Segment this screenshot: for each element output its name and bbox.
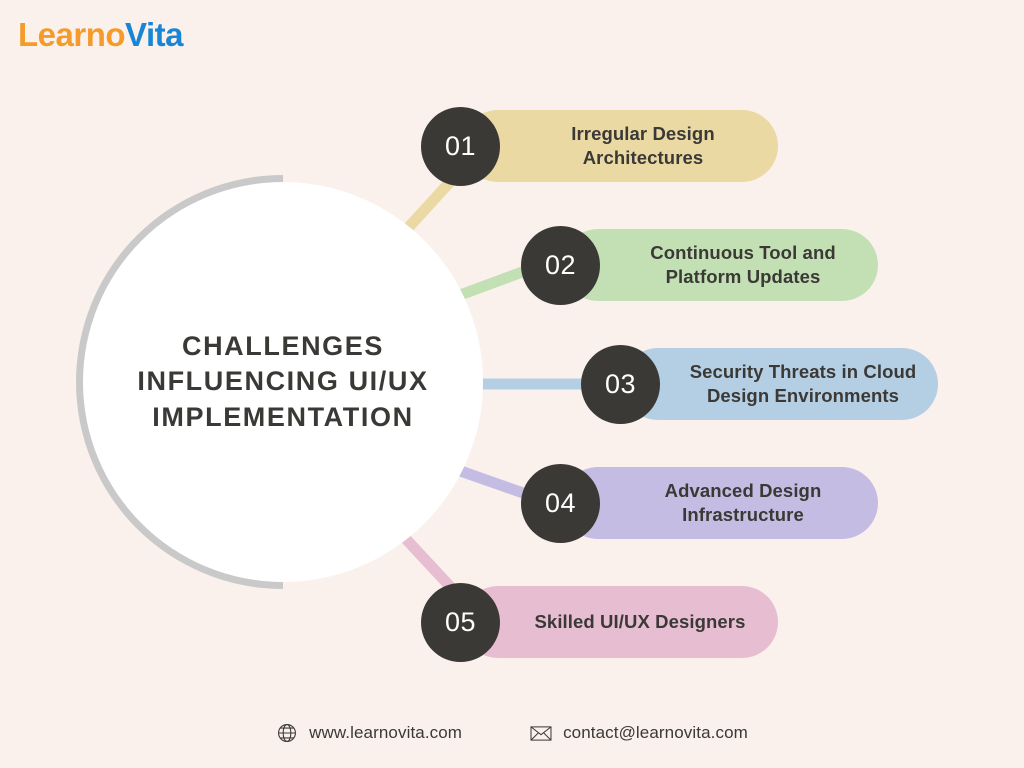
item-badge-02: 02	[521, 226, 600, 305]
item-pill-01[interactable]: Irregular Design Architectures	[462, 110, 778, 182]
item-pill-02[interactable]: Continuous Tool and Platform Updates	[562, 229, 878, 301]
footer-email-text: contact@learnovita.com	[563, 723, 748, 743]
item-badge-05: 05	[421, 583, 500, 662]
item-label-03: Security Threats in Cloud Design Environ…	[622, 360, 938, 407]
item-label-05: Skilled UI/UX Designers	[462, 610, 778, 634]
item-pill-04[interactable]: Advanced Design Infrastructure	[562, 467, 878, 539]
brand-logo: LearnoVita	[18, 18, 183, 51]
item-badge-03: 03	[581, 345, 660, 424]
logo-text-vita: Vita	[125, 16, 183, 53]
center-circle: CHALLENGES INFLUENCING UI/UX IMPLEMENTAT…	[83, 182, 483, 582]
item-badge-01: 01	[421, 107, 500, 186]
footer-email[interactable]: contact@learnovita.com	[530, 722, 748, 744]
footer-website-text: www.learnovita.com	[309, 723, 462, 743]
item-label-04: Advanced Design Infrastructure	[562, 479, 878, 526]
item-label-02: Continuous Tool and Platform Updates	[562, 241, 878, 288]
page-title: CHALLENGES INFLUENCING UI/UX IMPLEMENTAT…	[128, 329, 438, 436]
item-badge-04: 04	[521, 464, 600, 543]
item-pill-03[interactable]: Security Threats in Cloud Design Environ…	[622, 348, 938, 420]
logo-text-learno: Learno	[18, 16, 125, 53]
item-label-01: Irregular Design Architectures	[462, 122, 778, 169]
infographic-canvas: LearnoVita CHALLENGES INFLUENCING UI/UX …	[0, 0, 1024, 768]
item-pill-05[interactable]: Skilled UI/UX Designers	[462, 586, 778, 658]
globe-icon	[276, 722, 298, 744]
footer-website[interactable]: www.learnovita.com	[276, 722, 462, 744]
footer: www.learnovita.com contact@learnovita.co…	[0, 722, 1024, 744]
envelope-icon	[530, 722, 552, 744]
